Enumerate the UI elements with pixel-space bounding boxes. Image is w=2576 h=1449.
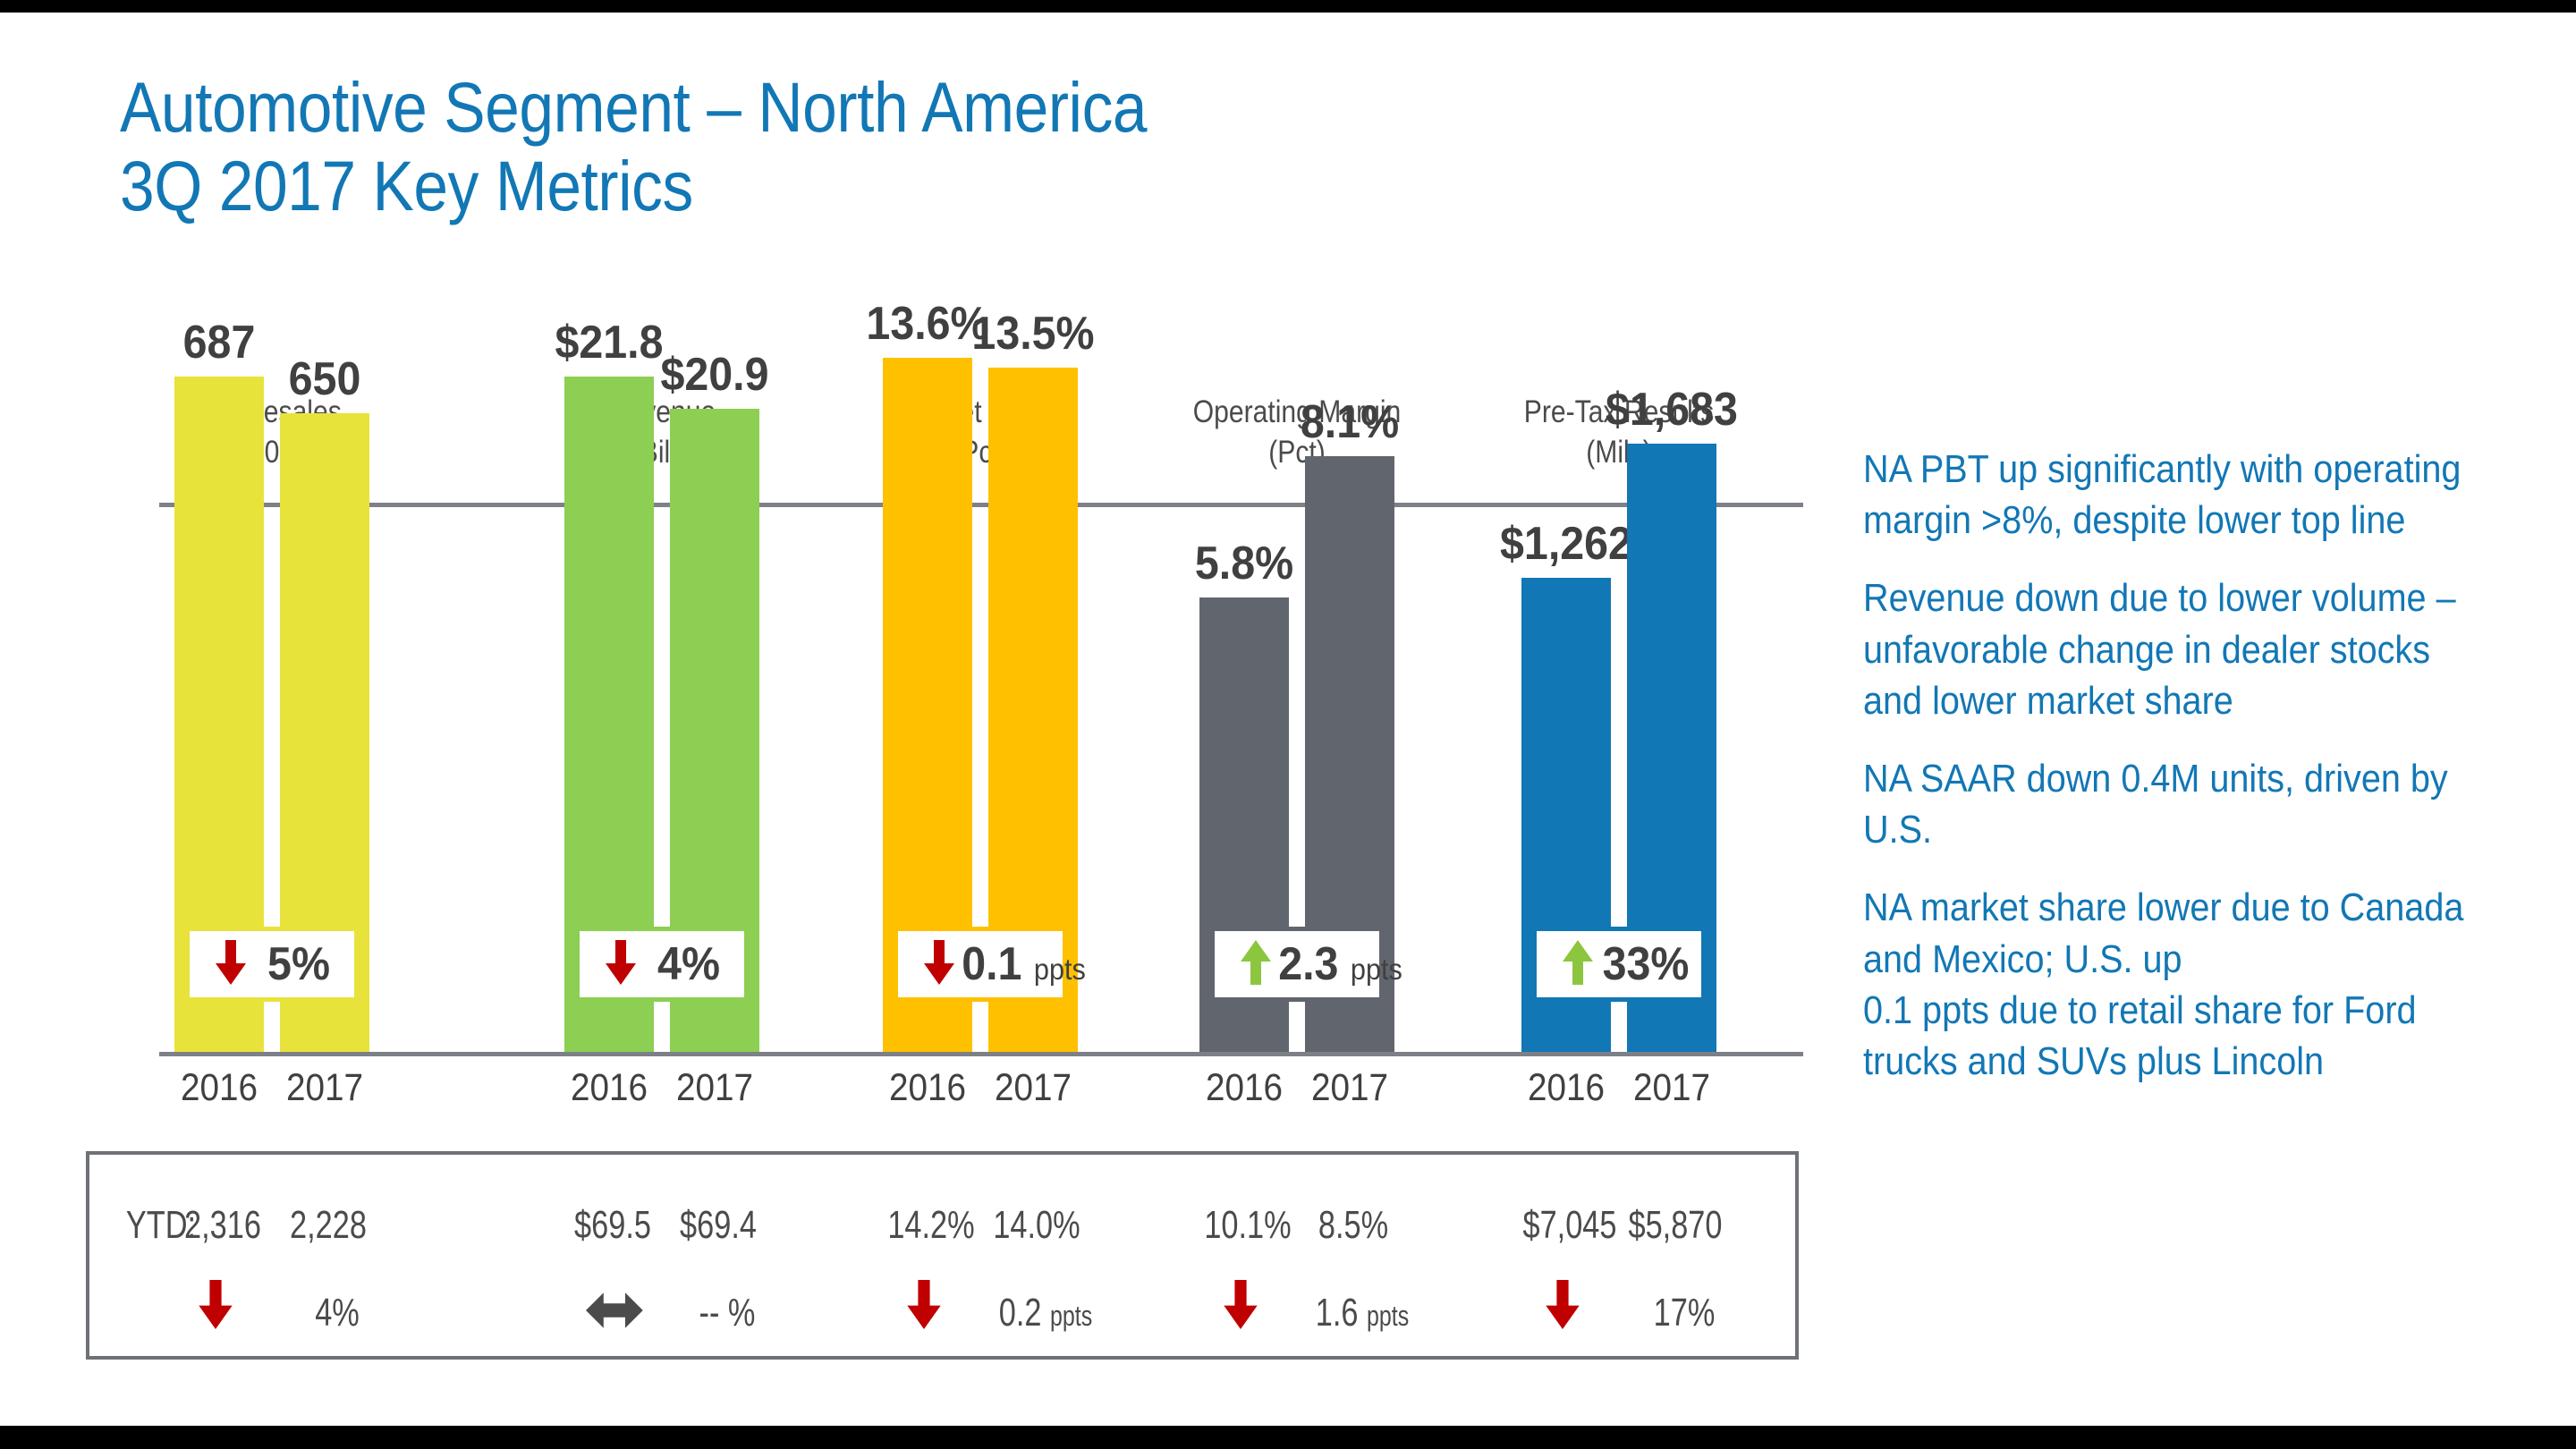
bar-value-label: 8.1% bbox=[1250, 395, 1449, 449]
slide-canvas: Automotive Segment – North America 3Q 20… bbox=[0, 13, 2576, 1426]
ytd-delta: 4% bbox=[253, 1291, 420, 1335]
ytd-summary-panel: YTD:2,3162,2284%$69.5$69.4-- %14.2%14.0%… bbox=[86, 1151, 1799, 1360]
commentary-paragraph-4: NA market share lower due to Canada and … bbox=[1863, 882, 2475, 1087]
delta-callout-wholesales: 5% bbox=[185, 927, 359, 1002]
bar-value-label: 13.5% bbox=[933, 307, 1132, 360]
x-axis-year-label: 2017 bbox=[244, 1066, 405, 1110]
delta-value: 2.3 ppts bbox=[1278, 937, 1402, 991]
axis-rule bbox=[159, 503, 1803, 507]
ytd-delta: 17% bbox=[1600, 1291, 1767, 1335]
delta-value: 0.1 ppts bbox=[962, 937, 1086, 991]
commentary-list: NA PBT up significantly with operating m… bbox=[1863, 444, 2543, 1114]
x-axis-year-label: 2017 bbox=[953, 1066, 1114, 1110]
ytd-delta: 1.6 ppts bbox=[1278, 1291, 1445, 1335]
ytd-arrow-down-icon bbox=[904, 1280, 944, 1334]
commentary-paragraph-2: Revenue down due to lower volume – unfav… bbox=[1863, 572, 2475, 726]
ytd-value: $5,870 bbox=[1591, 1203, 1758, 1248]
ytd-arrow-down-icon bbox=[1543, 1280, 1582, 1334]
ytd-delta: -- % bbox=[643, 1291, 810, 1335]
delta-value: 33% bbox=[1599, 937, 1692, 991]
axis-rule bbox=[159, 1052, 1803, 1056]
delta-callout-pre-tax-results: 33% bbox=[1532, 927, 1706, 1002]
ytd-arrow-down-icon bbox=[1221, 1280, 1260, 1334]
bar-value-label: $20.9 bbox=[614, 348, 814, 402]
delta-value: 4% bbox=[642, 937, 735, 991]
column-header-revenue: Revenue (Bils) bbox=[485, 393, 839, 473]
ytd-value: 14.0% bbox=[953, 1203, 1120, 1248]
ytd-delta: 0.2 ppts bbox=[962, 1291, 1129, 1335]
delta-callout-market-share: 0.1 ppts bbox=[894, 927, 1067, 1002]
delta-value: 5% bbox=[252, 937, 345, 991]
arrow-down-icon bbox=[603, 940, 639, 989]
x-axis-year-label: 2017 bbox=[1591, 1066, 1752, 1110]
commentary-paragraph-1: NA PBT up significantly with operating m… bbox=[1863, 444, 2475, 546]
arrow-down-icon bbox=[213, 940, 249, 989]
ytd-arrow-flat-icon bbox=[586, 1291, 643, 1335]
delta-callout-revenue: 4% bbox=[575, 927, 749, 1002]
bar-value-label: $1,683 bbox=[1572, 383, 1771, 436]
ytd-value: 8.5% bbox=[1269, 1203, 1436, 1248]
arrow-up-icon bbox=[1238, 940, 1274, 989]
ytd-arrow-down-icon bbox=[196, 1280, 235, 1334]
ytd-value: 2,228 bbox=[244, 1203, 411, 1248]
commentary-paragraph-3: NA SAAR down 0.4M units, driven by U.S. bbox=[1863, 753, 2475, 855]
x-axis-year-label: 2017 bbox=[1269, 1066, 1430, 1110]
column-header-market-share: Market Share (Pct) bbox=[803, 393, 1157, 473]
x-axis-year-label: 2017 bbox=[634, 1066, 795, 1110]
bar-value-label: 650 bbox=[225, 352, 424, 406]
delta-callout-operating-margin: 2.3 ppts bbox=[1210, 927, 1384, 1002]
arrow-up-icon bbox=[1560, 940, 1596, 989]
ytd-value: $69.4 bbox=[634, 1203, 801, 1248]
arrow-down-icon bbox=[921, 940, 957, 989]
